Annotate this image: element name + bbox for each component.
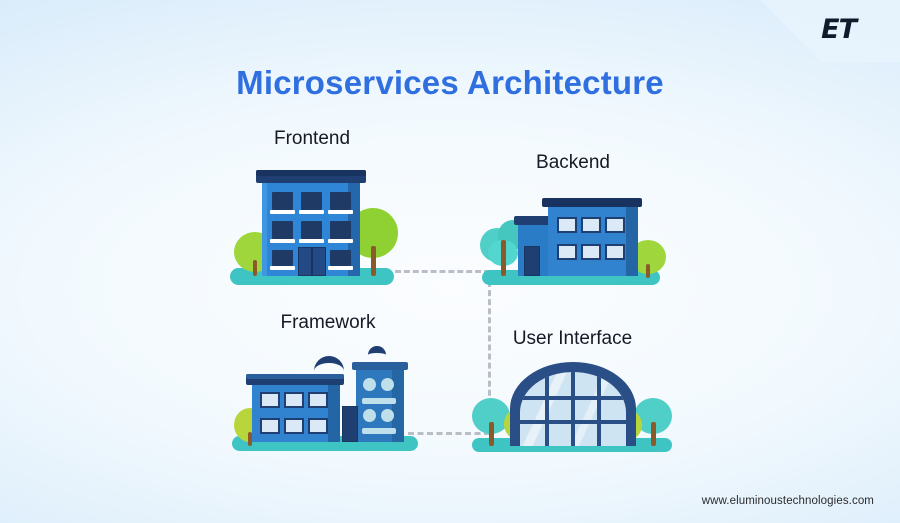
node-label-backend: Backend (478, 152, 668, 174)
node-frontend[interactable]: Frontend (222, 128, 402, 288)
page-title: Microservices Architecture (0, 64, 900, 102)
factory-building-icon (228, 338, 428, 454)
footer-url: www.eluminoustechnologies.com (702, 495, 874, 507)
connector-frontend-backend (395, 270, 490, 273)
et-brand-logo: ET (821, 14, 856, 45)
arched-glass-building-icon (470, 354, 675, 454)
office-building-icon (478, 178, 668, 288)
decorative-corner-wedge (710, 0, 900, 62)
node-backend[interactable]: Backend (478, 152, 668, 288)
node-label-user-interface: User Interface (470, 328, 675, 350)
office-building-icon (222, 156, 402, 288)
node-label-framework: Framework (228, 312, 428, 334)
slide-canvas: ET Microservices Architecture Frontend (0, 0, 900, 523)
node-framework[interactable]: Framework (228, 312, 428, 454)
node-user-interface[interactable]: User Interface (470, 328, 675, 454)
node-label-frontend: Frontend (222, 128, 402, 150)
entrance-door-icon (524, 246, 540, 276)
entrance-door-icon (342, 406, 358, 442)
